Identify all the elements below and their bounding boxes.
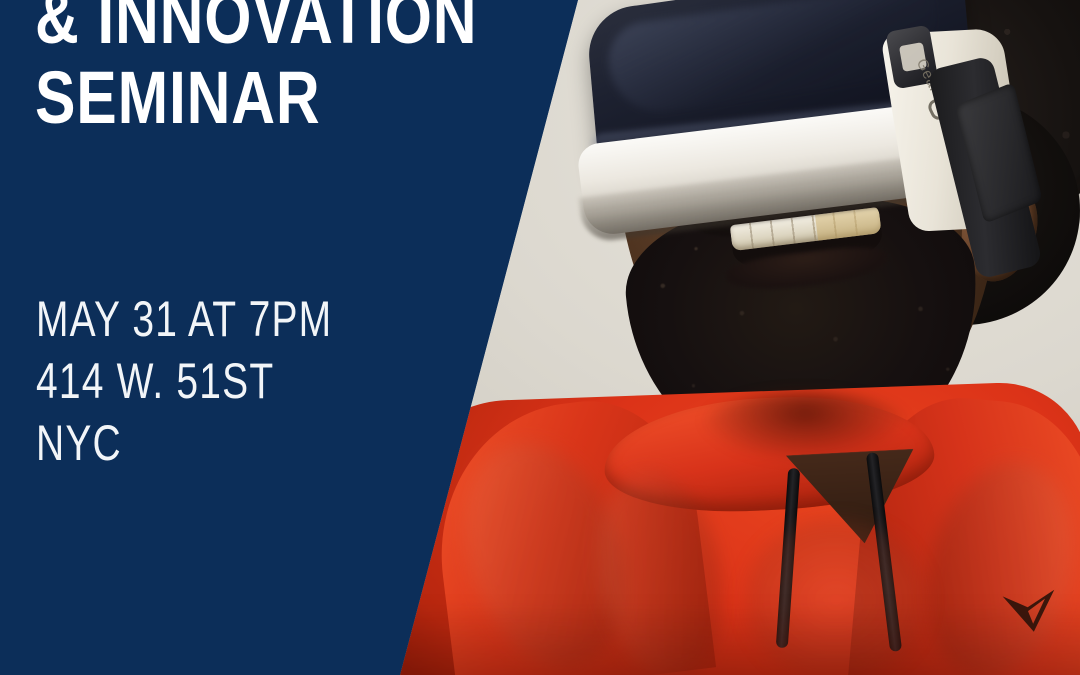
headline-line-1: & INNOVATION [35, 0, 494, 58]
event-address: 414 W. 51ST [36, 350, 348, 412]
hoodie-brand-logo-icon [1000, 586, 1060, 637]
event-poster: Gear VR oculus & INNOVATION SEMINAR MAY … [0, 0, 1080, 675]
hoodie-bottom-shading [392, 600, 1080, 675]
headline-line-2: SEMINAR [35, 58, 494, 138]
event-details-block: MAY 31 AT 7PM 414 W. 51ST NYC [36, 288, 436, 474]
event-datetime: MAY 31 AT 7PM [36, 288, 348, 350]
headline-block: & INNOVATION SEMINAR [35, 0, 595, 138]
event-city: NYC [36, 412, 348, 474]
